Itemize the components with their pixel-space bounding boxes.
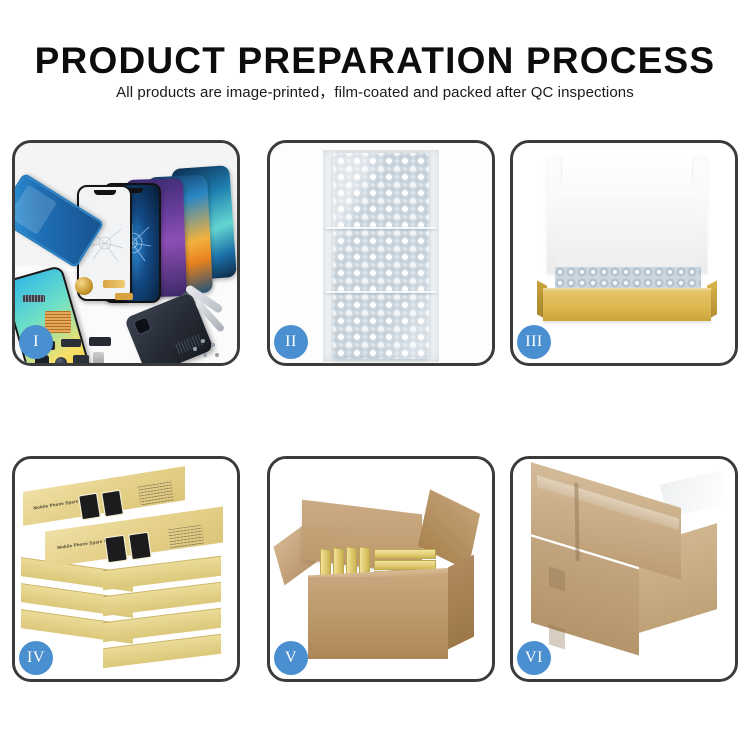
flex-cable-gold-2 — [115, 293, 133, 300]
flex-cable-gold-1 — [103, 280, 125, 288]
copper-mesh-part — [45, 311, 71, 333]
step-badge-2: II — [274, 325, 308, 359]
step-panel-1: I — [12, 140, 240, 366]
notch-icon — [94, 190, 116, 195]
screw-part — [193, 347, 197, 351]
box-inner-liner — [557, 195, 697, 273]
step-badge-6: VI — [517, 641, 551, 675]
phone-image-on-box — [129, 533, 150, 559]
bubble-grid — [333, 153, 429, 359]
step-panel-3: III — [510, 140, 738, 366]
flex-cable-black-2 — [61, 339, 81, 347]
step-panel-4: Mobile Phone Spare Parts Mobile Phone Sp… — [12, 456, 240, 682]
retail-box-in-carton — [374, 549, 436, 559]
speaker-part — [73, 355, 89, 363]
phone-image-on-box — [105, 536, 126, 562]
home-button-part — [75, 277, 93, 295]
product-preparation-infographic: PRODUCT PREPARATION PROCESS All products… — [0, 0, 750, 750]
phone-image-on-box — [102, 491, 122, 516]
carton-side-right — [448, 555, 474, 650]
page-title: PRODUCT PREPARATION PROCESS — [0, 42, 750, 79]
camera-lens-part — [55, 357, 67, 363]
step-badge-1: I — [19, 325, 53, 359]
battery-part — [93, 352, 104, 363]
screw-part — [203, 353, 207, 357]
phone-image-on-box — [79, 494, 99, 519]
wrap-seam — [326, 291, 436, 293]
page-subtitle: All products are image-printed，film-coat… — [0, 85, 750, 100]
screw-part — [215, 353, 219, 357]
step-panel-5: V — [267, 456, 495, 682]
screw-part — [201, 339, 205, 343]
step-badge-4: IV — [19, 641, 53, 675]
flex-cable-black-3 — [89, 337, 111, 346]
step-badge-3: III — [517, 325, 551, 359]
carton-body-front — [308, 577, 448, 659]
box-front-kraft — [543, 291, 711, 321]
retail-box-printed-1: Mobile Phone Spare Parts — [23, 479, 185, 527]
wrap-seam — [326, 227, 436, 229]
step-panel-6: VI — [510, 456, 738, 682]
step-panel-2: II — [267, 140, 495, 366]
retail-box-spec-lines — [138, 481, 175, 506]
chip-strip-part — [23, 295, 45, 302]
steps-grid: I II III — [12, 140, 738, 682]
screw-part — [211, 343, 215, 347]
step-badge-5: V — [274, 641, 308, 675]
